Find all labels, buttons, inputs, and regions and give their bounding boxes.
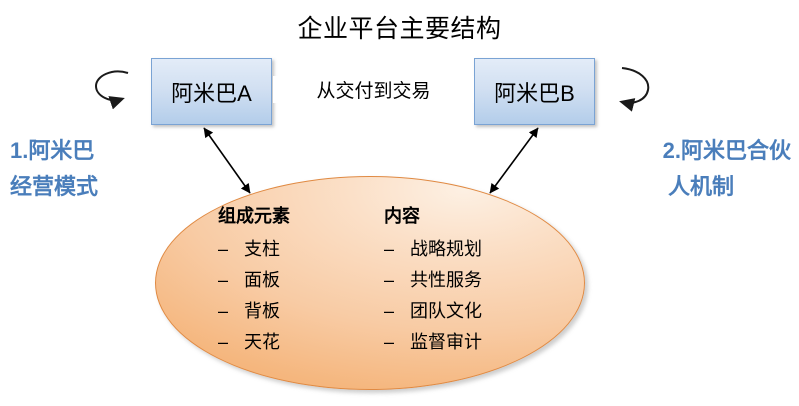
bullet-dash-icon: – [218, 265, 244, 296]
list-item: – 共性服务 [384, 265, 534, 296]
node-amoeba-a[interactable]: 阿米巴A [151, 58, 272, 125]
caption-right: 2.阿米巴合伙 人机制 [611, 133, 791, 205]
column-contents: 内容 – 战略规划 – 共性服务 – 团队文化 – 监督审计 [384, 202, 534, 390]
column-composition-elements: 组成元素 – 支柱 – 面板 – 背板 – 天花 [218, 202, 368, 390]
list-item: – 支柱 [218, 234, 368, 265]
column-heading-elements: 组成元素 [218, 202, 368, 228]
bullet-dash-icon: – [218, 234, 244, 265]
list-item: – 天花 [218, 327, 368, 358]
list-item: – 团队文化 [384, 296, 534, 327]
bullet-dash-icon: – [384, 327, 410, 358]
list-item-label: 背板 [244, 296, 280, 327]
list-composition-elements: – 支柱 – 面板 – 背板 – 天花 [218, 234, 368, 358]
connector-label: 从交付到交易 [273, 76, 474, 103]
cycle-arrow-left-icon [96, 71, 128, 100]
bullet-dash-icon: – [218, 327, 244, 358]
bullet-dash-icon: – [384, 296, 410, 327]
list-item-label: 团队文化 [410, 296, 482, 327]
diagram-canvas: 企业平台主要结构 [0, 0, 799, 406]
bullet-dash-icon: – [384, 265, 410, 296]
node-amoeba-b-label: 阿米巴B [494, 76, 575, 108]
caption-left-line1: 1.阿米巴 [10, 138, 94, 163]
caption-right-line2: 人机制 [611, 169, 791, 205]
bullet-dash-icon: – [218, 296, 244, 327]
list-item: – 背板 [218, 296, 368, 327]
caption-right-line1: 2.阿米巴合伙 [663, 138, 791, 163]
cycle-arrow-right-icon [622, 68, 648, 103]
list-item-label: 战略规划 [410, 234, 482, 265]
page-title: 企业平台主要结构 [0, 9, 799, 45]
list-item-label: 监督审计 [410, 327, 482, 358]
bullet-dash-icon: – [384, 234, 410, 265]
ellipse-content: 组成元素 – 支柱 – 面板 – 背板 – 天花 [155, 176, 585, 390]
list-item: – 监督审计 [384, 327, 534, 358]
list-contents: – 战略规划 – 共性服务 – 团队文化 – 监督审计 [384, 234, 534, 358]
node-amoeba-b[interactable]: 阿米巴B [474, 58, 595, 125]
caption-left-line2: 经营模式 [10, 169, 150, 205]
column-heading-contents: 内容 [384, 202, 534, 228]
list-item: – 面板 [218, 265, 368, 296]
list-item: – 战略规划 [384, 234, 534, 265]
caption-left: 1.阿米巴 经营模式 [10, 133, 150, 205]
list-item-label: 支柱 [244, 234, 280, 265]
node-amoeba-a-label: 阿米巴A [171, 76, 252, 108]
list-item-label: 共性服务 [410, 265, 482, 296]
list-item-label: 天花 [244, 327, 280, 358]
list-item-label: 面板 [244, 265, 280, 296]
